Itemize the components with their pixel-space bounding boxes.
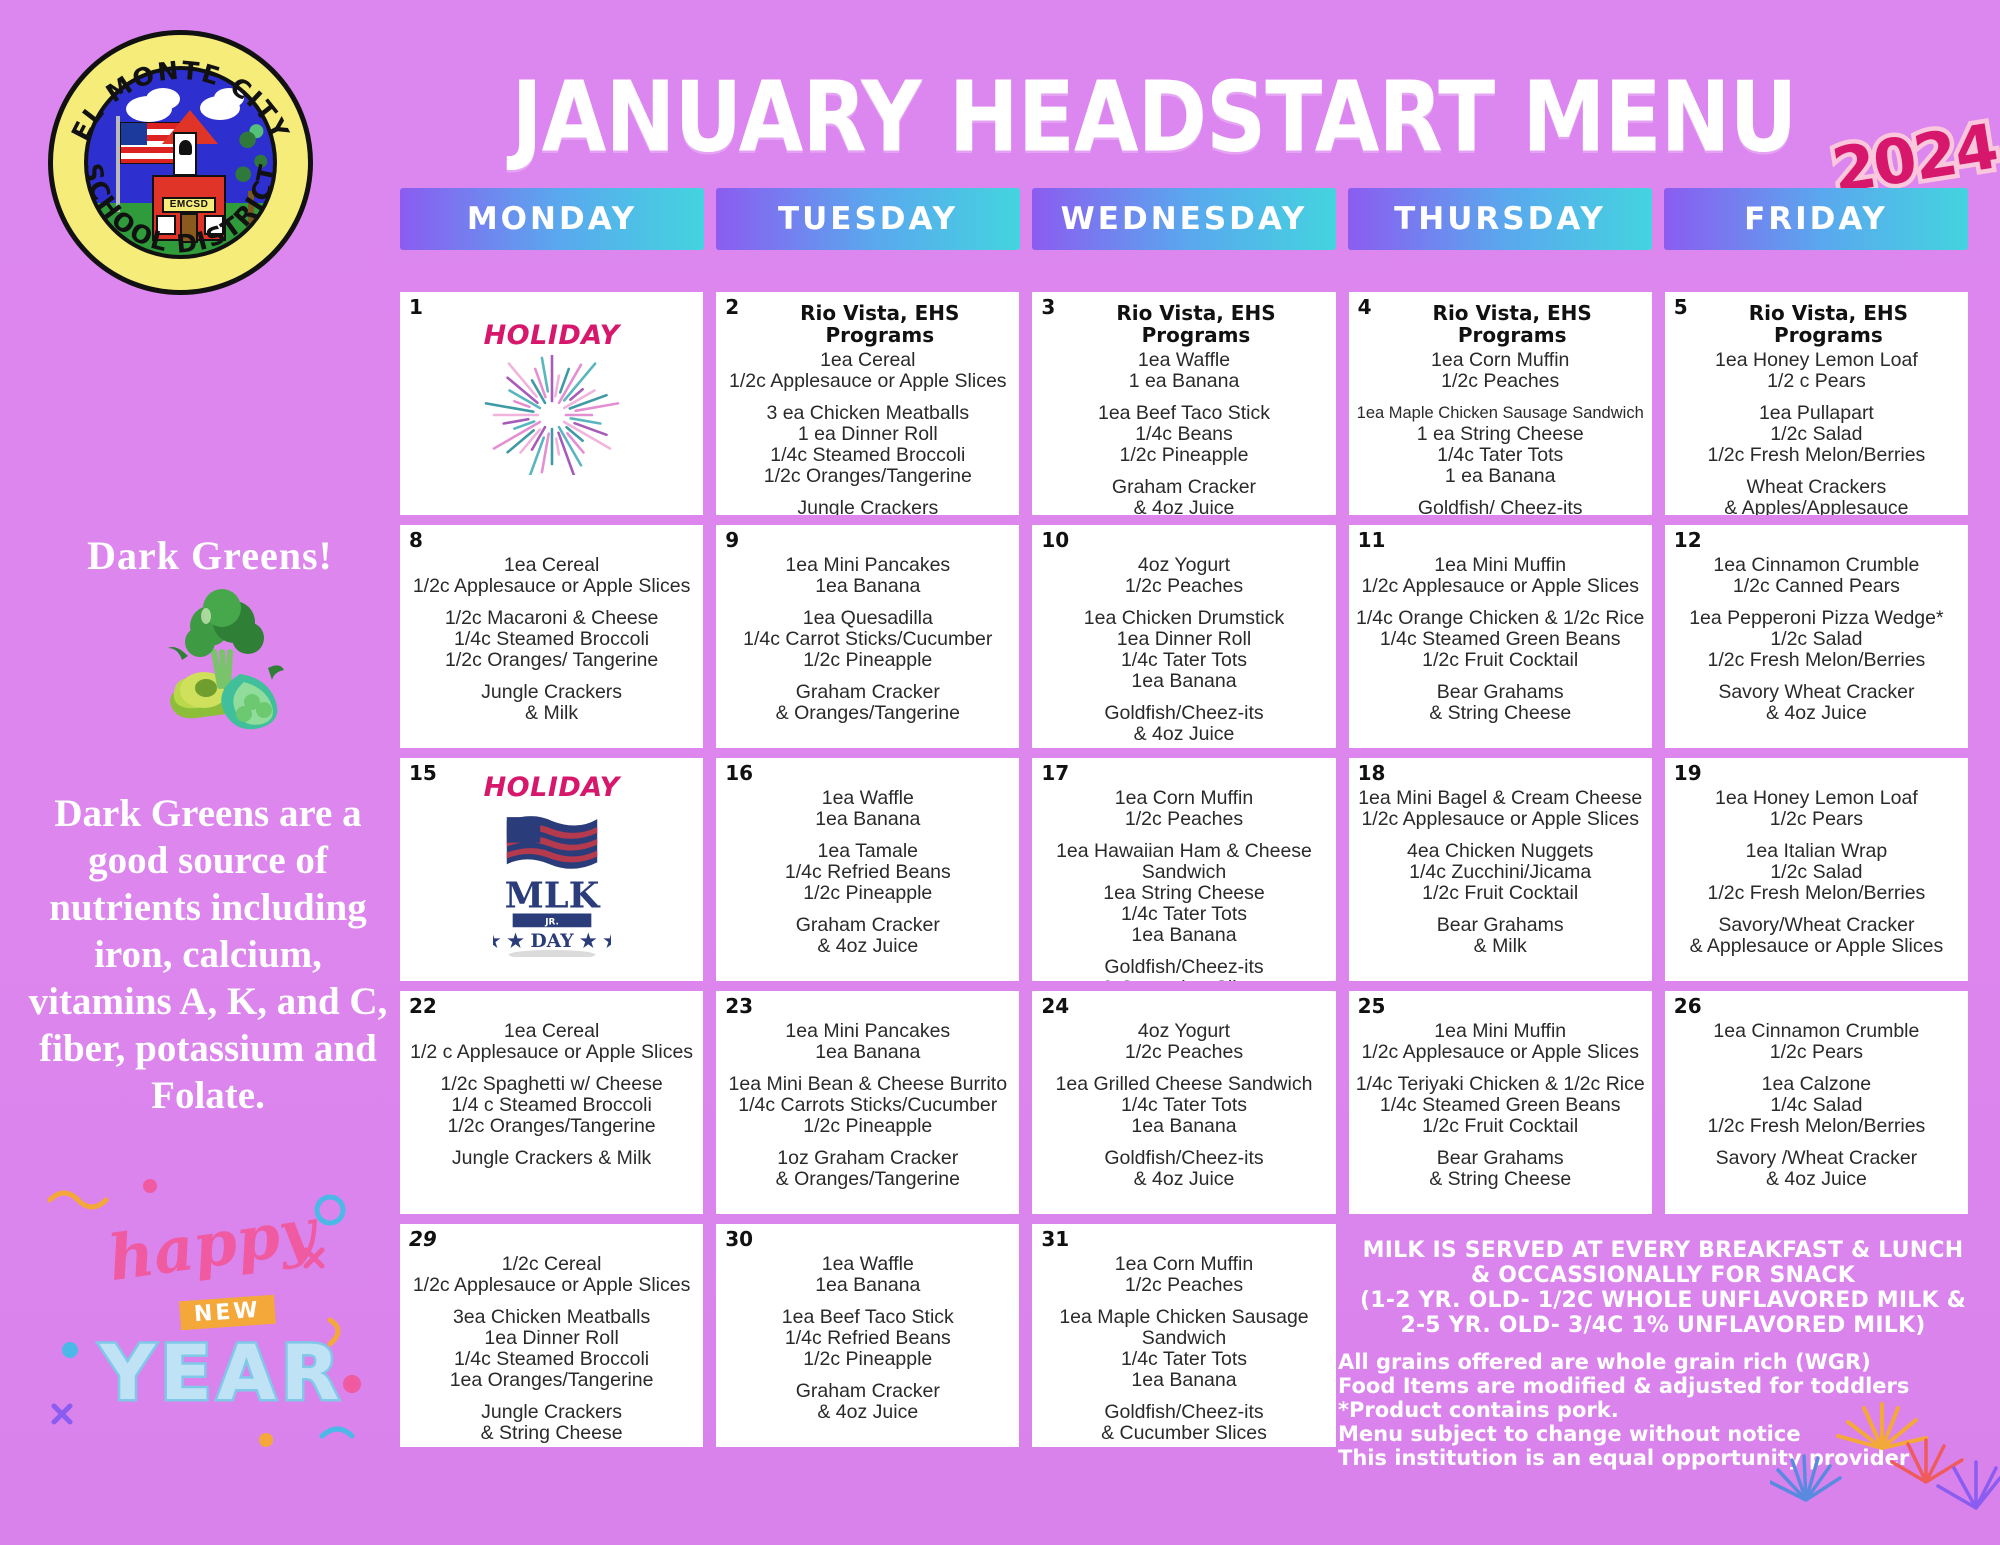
menu-items: 4oz Yogurt1/2c Peaches1ea Grilled Cheese…: [1038, 1021, 1329, 1190]
lunch-group: 1ea Quesadilla1/4c Carrot Sticks/Cucumbe…: [722, 608, 1013, 671]
day-number: 15: [409, 761, 437, 785]
menu-item-line: 1/2c Salad: [1671, 629, 1962, 650]
menu-item-line: 1ea Mini Bean & Cheese Burrito: [722, 1074, 1013, 1095]
menu-item-line: 1ea Banana: [1038, 1116, 1329, 1137]
menu-item-line: 4oz Yogurt: [1038, 1021, 1329, 1042]
menu-item-line: 1ea Chicken Drumstick: [1038, 608, 1329, 629]
menu-item-line: 1ea Tamale: [722, 841, 1013, 862]
svg-text:EL MONTE CITY: EL MONTE CITY: [66, 56, 295, 146]
menu-item-line: 1/4c Steamed Broccoli: [406, 1349, 697, 1370]
menu-item-line: 1/2c Oranges/Tangerine: [722, 466, 1013, 487]
menu-item-line: 1ea Quesadilla: [722, 608, 1013, 629]
snack-group: Wheat Crackers& Apples/Applesauce: [1671, 477, 1962, 515]
menu-item-line: 1 ea String Cheese: [1355, 424, 1646, 445]
calendar-cell-day-3[interactable]: 3Rio Vista, EHS Programs1ea Waffle1 ea B…: [1032, 292, 1335, 515]
day-number: 4: [1358, 295, 1372, 319]
menu-item-line: 1/4c Tater Tots: [1038, 904, 1329, 925]
svg-text:MLK: MLK: [504, 876, 600, 917]
menu-item-line: 1/2c Salad: [1671, 424, 1962, 445]
menu-item-line: 1ea Hawaiian Ham & Cheese: [1038, 841, 1329, 862]
menu-item-line: 1ea Mini Muffin: [1355, 555, 1646, 576]
menu-item-line: 1/2c Applesauce or Apple Slices: [406, 576, 697, 597]
fireworks-burst-icon: [406, 355, 697, 475]
menu-items: 1ea Mini Bagel & Cream Cheese1/2c Apples…: [1355, 788, 1646, 957]
snack-group: Goldfish/ Cheez-its& Cucumber Slices: [1355, 498, 1646, 515]
svg-text:SCHOOL DISTRICT: SCHOOL DISTRICT: [78, 161, 284, 259]
menu-item-line: 1/2c Peaches: [1038, 809, 1329, 830]
menu-item-line: 1/2c Pineapple: [722, 650, 1013, 671]
calendar-cell-day-24[interactable]: 244oz Yogurt1/2c Peaches1ea Grilled Chee…: [1032, 991, 1335, 1214]
menu-item-line: 1ea Pullapart: [1671, 403, 1962, 424]
menu-item-line: & 4oz Juice: [1671, 703, 1962, 724]
menu-item-line: 1ea Oranges/Tangerine: [406, 1370, 697, 1391]
day-number: 16: [725, 761, 753, 785]
menu-item-line: Graham Cracker: [1038, 477, 1329, 498]
breakfast-group: 1ea Corn Muffin1/2c Peaches: [1038, 788, 1329, 830]
menu-items: 1ea Honey Lemon Loaf1/2c Pears1ea Italia…: [1671, 788, 1962, 957]
menu-item-line: 1ea Cereal: [722, 350, 1013, 371]
menu-item-line: & Cucumber Slices: [1038, 1423, 1329, 1444]
menu-items: 1ea Cereal1/2c Applesauce or Apple Slice…: [406, 555, 697, 724]
weekday-header-row: MONDAY TUESDAY WEDNESDAY THURSDAY FRIDAY: [400, 188, 1968, 250]
snack-group: Goldfish/Cheez-its& Cucumber Slices: [1038, 1402, 1329, 1444]
lunch-group: 1ea Beef Taco Stick1/4c Beans1/2c Pineap…: [1038, 403, 1329, 466]
menu-item-line: 1/2c Fruit Cocktail: [1355, 650, 1646, 671]
menu-item-line: & Oranges/Tangerine: [722, 1169, 1013, 1190]
menu-item-line: 1ea Mini Pancakes: [722, 1021, 1013, 1042]
calendar-cell-day-16[interactable]: 161ea Waffle1ea Banana1ea Tamale1/4c Ref…: [716, 758, 1019, 981]
fireworks-decoration-icon: [1770, 1340, 2000, 1530]
menu-item-line: 1/4c Orange Chicken & 1/2c Rice: [1355, 608, 1646, 629]
snack-group: Graham Cracker& 4oz Juice: [722, 1381, 1013, 1423]
menu-item-line: 1ea Banana: [722, 576, 1013, 597]
day-number: 23: [725, 994, 753, 1018]
day-number: 22: [409, 994, 437, 1018]
menu-item-line: & String Cheese: [1355, 1169, 1646, 1190]
lunch-group: 1ea Maple Chicken SausageSandwich1/4c Ta…: [1038, 1307, 1329, 1391]
breakfast-group: 1ea Cinnamon Crumble1/2c Pears: [1671, 1021, 1962, 1063]
day-number: 8: [409, 528, 423, 552]
snack-group: Bear Grahams& String Cheese: [1355, 1148, 1646, 1190]
year-text: YEAR: [100, 1328, 344, 1417]
milk-note-line: & OCCASSIONALLY FOR SNACK: [1338, 1263, 1988, 1288]
snack-group: Jungle Crackers & Milk: [406, 1148, 697, 1169]
menu-item-line: 3ea Chicken Meatballs: [406, 1307, 697, 1328]
menu-item-line: 1/2c Peaches: [1038, 1042, 1329, 1063]
menu-item-line: 1ea Banana: [1038, 925, 1329, 946]
menu-item-line: 1/2c Cereal: [406, 1254, 697, 1275]
calendar-cell-day-12[interactable]: 121ea Cinnamon Crumble1/2c Canned Pears1…: [1665, 525, 1968, 748]
day-number: 24: [1041, 994, 1069, 1018]
weekday-header-wednesday: WEDNESDAY: [1032, 188, 1336, 250]
menu-item-line: 1/2c Applesauce or Apple Slices: [1355, 1042, 1646, 1063]
menu-item-line: & Applesauce or Apple Slices: [1671, 936, 1962, 957]
breakfast-group: 1ea Mini Pancakes1ea Banana: [722, 1021, 1013, 1063]
weekday-header-monday: MONDAY: [400, 188, 704, 250]
menu-items: 1ea Corn Muffin1/2c Peaches1ea Hawaiian …: [1038, 788, 1329, 981]
menu-item-line: 1ea Honey Lemon Loaf: [1671, 350, 1962, 371]
menu-item-line: Jungle Crackers: [406, 682, 697, 703]
menu-item-line: 1/2c Oranges/ Tangerine: [406, 650, 697, 671]
menu-item-line: 1/2c Pears: [1671, 809, 1962, 830]
menu-item-line: 1/2c Pineapple: [1038, 445, 1329, 466]
calendar-cell-day-26[interactable]: 261ea Cinnamon Crumble1/2c Pears1ea Calz…: [1665, 991, 1968, 1214]
menu-item-line: & 4oz Juice: [1671, 1169, 1962, 1190]
day-number: 2: [725, 295, 739, 319]
lunch-group: 1/4c Orange Chicken & 1/2c Rice1/4c Stea…: [1355, 608, 1646, 671]
calendar-cell-day-8[interactable]: 81ea Cereal1/2c Applesauce or Apple Slic…: [400, 525, 703, 748]
milk-note-line: 2-5 YR. OLD- 3/4C 1% UNFLAVORED MILK): [1338, 1313, 1988, 1338]
milk-note: MILK IS SERVED AT EVERY BREAKFAST & LUNC…: [1338, 1238, 1988, 1338]
menu-item-line: 1ea Dinner Roll: [1038, 629, 1329, 650]
menu-item-line: 1/2c Fruit Cocktail: [1355, 1116, 1646, 1137]
program-label: Rio Vista, EHS Programs: [1379, 302, 1646, 346]
day-number: 25: [1358, 994, 1386, 1018]
snack-group: Jungle Crackers& Milk: [406, 682, 697, 724]
menu-item-line: 1ea Banana: [722, 1042, 1013, 1063]
snack-group: Goldfish/Cheez-its& 4oz Juice: [1038, 1148, 1329, 1190]
menu-item-line: 1ea Banana: [1038, 1370, 1329, 1391]
snack-group: Graham Cracker& 4oz Juice: [1038, 477, 1329, 515]
menu-item-line: 1ea Cinnamon Crumble: [1671, 1021, 1962, 1042]
lunch-group: 4ea Chicken Nuggets1/4c Zucchini/Jicama1…: [1355, 841, 1646, 904]
lunch-group: 1/4c Teriyaki Chicken & 1/2c Rice1/4c St…: [1355, 1074, 1646, 1137]
milk-note-line: (1-2 YR. OLD- 1/2C WHOLE UNFLAVORED MILK…: [1338, 1288, 1988, 1313]
program-label: Rio Vista, EHS Programs: [746, 302, 1013, 346]
menu-item-line: 1/2c Peaches: [1355, 371, 1646, 392]
menu-item-line: 1/4c Teriyaki Chicken & 1/2c Rice: [1355, 1074, 1646, 1095]
breakfast-group: 1ea Waffle1ea Banana: [722, 788, 1013, 830]
menu-items: 1ea Cereal1/2 c Applesauce or Apple Slic…: [406, 1021, 697, 1169]
menu-poster: EMCSD EL MONTE CITY SCHOOL DISTRICT JANU…: [0, 0, 2000, 1545]
menu-item-line: 1ea Cereal: [406, 555, 697, 576]
snack-group: Savory/Wheat Cracker& Applesauce or Appl…: [1671, 915, 1962, 957]
day-number: 30: [725, 1227, 753, 1251]
breakfast-group: 1ea Mini Pancakes1ea Banana: [722, 555, 1013, 597]
menu-item-line: 1/4c Steamed Green Beans: [1355, 629, 1646, 650]
menu-item-line: 1/2c Oranges/Tangerine: [406, 1116, 697, 1137]
menu-item-line: 1/2c Applesauce or Apple Slices: [406, 1275, 697, 1296]
breakfast-group: 1ea Cereal1/2 c Applesauce or Apple Slic…: [406, 1021, 697, 1063]
menu-item-line: 1ea Italian Wrap: [1671, 841, 1962, 862]
svg-text:★ ★ DAY ★ ★: ★ ★ DAY ★ ★: [493, 930, 611, 952]
menu-item-line: 1 ea Dinner Roll: [722, 424, 1013, 445]
menu-item-line: & Oranges/Tangerine: [722, 703, 1013, 724]
menu-item-line: & 4oz Juice: [722, 936, 1013, 957]
menu-item-line: 1ea Maple Chicken Sausage Sandwich: [1355, 403, 1646, 424]
weekday-header-thursday: THURSDAY: [1348, 188, 1652, 250]
menu-item-line: 1/2c Pears: [1671, 1042, 1962, 1063]
menu-item-line: 1/2c Applesauce or Apple Slices: [722, 371, 1013, 392]
menu-item-line: Sandwich: [1038, 1328, 1329, 1349]
lunch-group: 1ea Italian Wrap1/2c Salad1/2c Fresh Mel…: [1671, 841, 1962, 904]
menu-item-line: 1/4c Refried Beans: [722, 1328, 1013, 1349]
menu-item-line: 1ea Honey Lemon Loaf: [1671, 788, 1962, 809]
menu-item-line: Goldfish/Cheez-its: [1038, 703, 1329, 724]
snack-group: Jungle Crackers& String Cheese: [722, 498, 1013, 515]
menu-item-line: 1ea Corn Muffin: [1038, 788, 1329, 809]
sidebar-title: Dark Greens!: [30, 532, 390, 579]
menu-item-line: 1/4c Tater Tots: [1038, 650, 1329, 671]
weekday-header-friday: FRIDAY: [1664, 188, 1968, 250]
day-number: 18: [1358, 761, 1386, 785]
menu-item-line: 1/2c Pineapple: [722, 1116, 1013, 1137]
menu-item-line: Savory Wheat Cracker: [1671, 682, 1962, 703]
menu-item-line: 1/4c Salad: [1671, 1095, 1962, 1116]
menu-item-line: & Cucumber Slices: [1038, 978, 1329, 981]
menu-item-line: Goldfish/Cheez-its: [1038, 1402, 1329, 1423]
program-label: Rio Vista, EHS Programs: [1062, 302, 1329, 346]
breakfast-group: 1ea Cereal1/2c Applesauce or Apple Slice…: [406, 555, 697, 597]
menu-item-line: & String Cheese: [406, 1423, 697, 1444]
menu-item-line: 1/4c Tater Tots: [1038, 1095, 1329, 1116]
menu-item-line: 1ea Mini Muffin: [1355, 1021, 1646, 1042]
menu-item-line: 1/4c Tater Tots: [1038, 1349, 1329, 1370]
day-number: 3: [1041, 295, 1055, 319]
calendar-cell-day-18[interactable]: 181ea Mini Bagel & Cream Cheese1/2c Appl…: [1349, 758, 1652, 981]
menu-item-line: 1/4c Steamed Broccoli: [406, 629, 697, 650]
sidebar-body-text: Dark Greens are a good source of nutrien…: [22, 790, 394, 1119]
menu-item-line: & String Cheese: [1355, 703, 1646, 724]
happy-new-year-icon: happy NEW YEAR: [30, 1170, 390, 1470]
breakfast-group: 1ea Honey Lemon Loaf1/2 c Pears: [1671, 350, 1962, 392]
menu-item-line: 1/2c Peaches: [1038, 576, 1329, 597]
calendar-cell-day-1[interactable]: 1HOLIDAY: [400, 292, 703, 515]
menu-item-line: Goldfish/ Cheez-its: [1355, 498, 1646, 515]
breakfast-group: 1ea Waffle1 ea Banana: [1038, 350, 1329, 392]
menu-item-line: 1ea Mini Bagel & Cream Cheese: [1355, 788, 1646, 809]
menu-item-line: 1/2c Applesauce or Apple Slices: [1355, 809, 1646, 830]
menu-item-line: Savory /Wheat Cracker: [1671, 1148, 1962, 1169]
page-title: JANUARY HEADSTART MENU: [471, 68, 1838, 169]
lunch-group: 1ea Chicken Drumstick1ea Dinner Roll1/4c…: [1038, 608, 1329, 692]
menu-item-line: 1ea Cinnamon Crumble: [1671, 555, 1962, 576]
calendar-cell-day-31[interactable]: 311ea Corn Muffin1/2c Peaches1ea Maple C…: [1032, 1224, 1335, 1447]
menu-item-line: 1ea Waffle: [722, 788, 1013, 809]
menu-item-line: 1ea Banana: [1038, 671, 1329, 692]
menu-item-line: 1/4c Refried Beans: [722, 862, 1013, 883]
calendar-cell-day-30[interactable]: 301ea Waffle1ea Banana1ea Beef Taco Stic…: [716, 1224, 1019, 1447]
breakfast-group: 1ea Waffle1ea Banana: [722, 1254, 1013, 1296]
lunch-group: 1ea Pullapart1/2c Salad1/2c Fresh Melon/…: [1671, 403, 1962, 466]
weekday-header-tuesday: TUESDAY: [716, 188, 1020, 250]
snack-group: 1oz Graham Cracker& Oranges/Tangerine: [722, 1148, 1013, 1190]
menu-item-line: & Apples/Applesauce: [1671, 498, 1962, 515]
menu-items: 4oz Yogurt1/2c Peaches1ea Chicken Drumst…: [1038, 555, 1329, 745]
snack-group: Savory /Wheat Cracker& 4oz Juice: [1671, 1148, 1962, 1190]
menu-items: 1ea Mini Pancakes1ea Banana1ea Quesadill…: [722, 555, 1013, 724]
menu-item-line: 1ea Beef Taco Stick: [722, 1307, 1013, 1328]
calendar-cell-day-2[interactable]: 2Rio Vista, EHS Programs1ea Cereal1/2c A…: [716, 292, 1019, 515]
seal-curved-text: EL MONTE CITY SCHOOL DISTRICT: [48, 30, 313, 295]
day-number: 11: [1358, 528, 1386, 552]
menu-item-line: Bear Grahams: [1355, 1148, 1646, 1169]
menu-item-line: 1/2c Fresh Melon/Berries: [1671, 883, 1962, 904]
menu-items: 1ea Mini Muffin1/2c Applesauce or Apple …: [1355, 555, 1646, 724]
lunch-group: 3ea Chicken Meatballs1ea Dinner Roll1/4c…: [406, 1307, 697, 1391]
breakfast-group: 1ea Mini Muffin1/2c Applesauce or Apple …: [1355, 555, 1646, 597]
menu-item-line: Jungle Crackers & Milk: [406, 1148, 697, 1169]
menu-items: 1/2c Cereal1/2c Applesauce or Apple Slic…: [406, 1254, 697, 1444]
menu-item-line: 1ea Banana: [722, 809, 1013, 830]
breakfast-group: 4oz Yogurt1/2c Peaches: [1038, 555, 1329, 597]
menu-items: 1ea Waffle1ea Banana1ea Tamale1/4c Refri…: [722, 788, 1013, 957]
lunch-group: 1ea Tamale1/4c Refried Beans1/2c Pineapp…: [722, 841, 1013, 904]
menu-item-line: & Milk: [1355, 936, 1646, 957]
menu-item-line: 1 ea Banana: [1355, 466, 1646, 487]
breakfast-group: 1ea Corn Muffin1/2c Peaches: [1038, 1254, 1329, 1296]
menu-item-line: 1ea Beef Taco Stick: [1038, 403, 1329, 424]
menu-item-line: 1/4 c Steamed Broccoli: [406, 1095, 697, 1116]
menu-item-line: Graham Cracker: [722, 915, 1013, 936]
menu-item-line: 1/2c Macaroni & Cheese: [406, 608, 697, 629]
menu-item-line: Graham Cracker: [722, 682, 1013, 703]
dark-greens-vegetables-icon: [118, 582, 308, 742]
district-logo: EMCSD EL MONTE CITY SCHOOL DISTRICT: [48, 30, 313, 295]
menu-items: 1ea Corn Muffin1/2c Peaches1ea Maple Chi…: [1038, 1254, 1329, 1444]
snack-group: Bear Grahams& Milk: [1355, 915, 1646, 957]
menu-item-line: Sandwich: [1038, 862, 1329, 883]
menu-item-line: 1ea Mini Pancakes: [722, 555, 1013, 576]
breakfast-group: 1ea Honey Lemon Loaf1/2c Pears: [1671, 788, 1962, 830]
menu-item-line: 1/2 c Pears: [1671, 371, 1962, 392]
menu-items: 1ea Corn Muffin1/2c Peaches1ea Maple Chi…: [1355, 350, 1646, 515]
breakfast-group: 4oz Yogurt1/2c Peaches: [1038, 1021, 1329, 1063]
lunch-group: 1/2c Macaroni & Cheese1/4c Steamed Brocc…: [406, 608, 697, 671]
menu-item-line: 1ea Dinner Roll: [406, 1328, 697, 1349]
snack-group: Goldfish/Cheez-its& Cucumber Slices: [1038, 957, 1329, 981]
menu-item-line: & 4oz Juice: [1038, 498, 1329, 515]
calendar-cell-day-15[interactable]: 15HOLIDAY MLK JR. ★ ★ DAY ★ ★: [400, 758, 703, 981]
day-number: 19: [1674, 761, 1702, 785]
menu-item-line: 1/2c Fresh Melon/Berries: [1671, 445, 1962, 466]
menu-item-line: 1ea Pepperoni Pizza Wedge*: [1671, 608, 1962, 629]
lunch-group: 1/2c Spaghetti w/ Cheese1/4 c Steamed Br…: [406, 1074, 697, 1137]
menu-item-line: 1/4c Tater Tots: [1355, 445, 1646, 466]
day-number: 5: [1674, 295, 1688, 319]
holiday-label: HOLIDAY: [406, 772, 697, 803]
menu-item-line: 1/4c Zucchini/Jicama: [1355, 862, 1646, 883]
menu-item-line: 3 ea Chicken Meatballs: [722, 403, 1013, 424]
menu-item-line: 1oz Graham Cracker: [722, 1148, 1013, 1169]
menu-item-line: 1/4c Carrots Sticks/Cucumber: [722, 1095, 1013, 1116]
menu-item-line: & Milk: [406, 703, 697, 724]
calendar-cell-day-11[interactable]: 111ea Mini Muffin1/2c Applesauce or Appl…: [1349, 525, 1652, 748]
menu-item-line: Bear Grahams: [1355, 915, 1646, 936]
calendar-cell-day-29[interactable]: 291/2c Cereal1/2c Applesauce or Apple Sl…: [400, 1224, 703, 1447]
menu-item-line: 1/2c Fresh Melon/Berries: [1671, 1116, 1962, 1137]
menu-item-line: 1/4c Carrot Sticks/Cucumber: [722, 629, 1013, 650]
menu-item-line: 1ea Maple Chicken Sausage: [1038, 1307, 1329, 1328]
menu-items: 1ea Cereal1/2c Applesauce or Apple Slice…: [722, 350, 1013, 515]
menu-item-line: 1ea String Cheese: [1038, 883, 1329, 904]
menu-item-line: 1ea Waffle: [722, 1254, 1013, 1275]
menu-item-line: 1ea Calzone: [1671, 1074, 1962, 1095]
breakfast-group: 1ea Mini Muffin1/2c Applesauce or Apple …: [1355, 1021, 1646, 1063]
menu-item-line: 1/2c Canned Pears: [1671, 576, 1962, 597]
menu-item-line: 1/2 c Applesauce or Apple Slices: [406, 1042, 697, 1063]
menu-item-line: 1ea Waffle: [1038, 350, 1329, 371]
menu-item-line: Wheat Crackers: [1671, 477, 1962, 498]
day-number: 9: [725, 528, 739, 552]
lunch-group: 1ea Beef Taco Stick1/4c Refried Beans1/2…: [722, 1307, 1013, 1370]
menu-items: 1ea Cinnamon Crumble1/2c Pears1ea Calzon…: [1671, 1021, 1962, 1190]
menu-item-line: Savory/Wheat Cracker: [1671, 915, 1962, 936]
menu-item-line: Goldfish/Cheez-its: [1038, 1148, 1329, 1169]
svg-text:JR.: JR.: [544, 917, 559, 927]
menu-item-line: 1ea Corn Muffin: [1355, 350, 1646, 371]
menu-item-line: 1/2c Fruit Cocktail: [1355, 883, 1646, 904]
menu-item-line: Jungle Crackers: [406, 1402, 697, 1423]
snack-group: Graham Cracker& 4oz Juice: [722, 915, 1013, 957]
menu-item-line: & 4oz Juice: [722, 1402, 1013, 1423]
calendar-cell-day-25[interactable]: 251ea Mini Muffin1/2c Applesauce or Appl…: [1349, 991, 1652, 1214]
lunch-group: 1ea Pepperoni Pizza Wedge*1/2c Salad1/2c…: [1671, 608, 1962, 671]
menu-item-line: 1ea Corn Muffin: [1038, 1254, 1329, 1275]
breakfast-group: 1ea Mini Bagel & Cream Cheese1/2c Apples…: [1355, 788, 1646, 830]
breakfast-group: 1ea Cereal1/2c Applesauce or Apple Slice…: [722, 350, 1013, 392]
menu-items: 1ea Honey Lemon Loaf1/2 c Pears1ea Pulla…: [1671, 350, 1962, 515]
snack-group: Bear Grahams& String Cheese: [1355, 682, 1646, 724]
snack-group: Goldfish/Cheez-its& 4oz Juice: [1038, 703, 1329, 745]
calendar-cell-day-23[interactable]: 231ea Mini Pancakes1ea Banana1ea Mini Be…: [716, 991, 1019, 1214]
milk-note-line: MILK IS SERVED AT EVERY BREAKFAST & LUNC…: [1338, 1238, 1988, 1263]
lunch-group: 1ea Maple Chicken Sausage Sandwich1 ea S…: [1355, 403, 1646, 487]
menu-item-line: 1ea Banana: [722, 1275, 1013, 1296]
holiday-label: HOLIDAY: [406, 320, 697, 351]
menu-item-line: 4ea Chicken Nuggets: [1355, 841, 1646, 862]
lunch-group: 3 ea Chicken Meatballs1 ea Dinner Roll1/…: [722, 403, 1013, 487]
menu-item-line: 1/4c Steamed Green Beans: [1355, 1095, 1646, 1116]
calendar-cell-day-4[interactable]: 4Rio Vista, EHS Programs1ea Corn Muffin1…: [1349, 292, 1652, 515]
menu-item-line: 1/2c Fresh Melon/Berries: [1671, 650, 1962, 671]
menu-items: 1ea Mini Pancakes1ea Banana1ea Mini Bean…: [722, 1021, 1013, 1190]
menu-items: 1ea Waffle1 ea Banana1ea Beef Taco Stick…: [1038, 350, 1329, 515]
menu-item-line: Goldfish/Cheez-its: [1038, 957, 1329, 978]
calendar-cell-day-5[interactable]: 5Rio Vista, EHS Programs1ea Honey Lemon …: [1665, 292, 1968, 515]
menu-item-line: & 4oz Juice: [1038, 724, 1329, 745]
menu-items: 1ea Cinnamon Crumble1/2c Canned Pears1ea…: [1671, 555, 1962, 724]
mlk-day-flag-icon: MLK JR. ★ ★ DAY ★ ★: [406, 809, 697, 957]
day-number: 31: [1041, 1227, 1069, 1251]
menu-item-line: 1/4c Beans: [1038, 424, 1329, 445]
menu-item-line: 1/2c Spaghetti w/ Cheese: [406, 1074, 697, 1095]
day-number: 26: [1674, 994, 1702, 1018]
calendar-cell-day-9[interactable]: 91ea Mini Pancakes1ea Banana1ea Quesadil…: [716, 525, 1019, 748]
breakfast-group: 1ea Corn Muffin1/2c Peaches: [1355, 350, 1646, 392]
menu-item-line: & 4oz Juice: [1038, 1169, 1329, 1190]
snack-group: Savory Wheat Cracker& 4oz Juice: [1671, 682, 1962, 724]
calendar-cell-day-10[interactable]: 104oz Yogurt1/2c Peaches1ea Chicken Drum…: [1032, 525, 1335, 748]
menu-item-line: Bear Grahams: [1355, 682, 1646, 703]
lunch-group: 1ea Grilled Cheese Sandwich1/4c Tater To…: [1038, 1074, 1329, 1137]
calendar-cell-day-22[interactable]: 221ea Cereal1/2 c Applesauce or Apple Sl…: [400, 991, 703, 1214]
day-number: 10: [1041, 528, 1069, 552]
day-number: 29: [409, 1227, 437, 1251]
menu-item-line: 1/4c Steamed Broccoli: [722, 445, 1013, 466]
calendar-cell-day-19[interactable]: 191ea Honey Lemon Loaf1/2c Pears1ea Ital…: [1665, 758, 1968, 981]
calendar-cell-day-17[interactable]: 171ea Corn Muffin1/2c Peaches1ea Hawaiia…: [1032, 758, 1335, 981]
breakfast-group: 1ea Cinnamon Crumble1/2c Canned Pears: [1671, 555, 1962, 597]
menu-item-line: Graham Cracker: [722, 1381, 1013, 1402]
menu-item-line: 1 ea Banana: [1038, 371, 1329, 392]
menu-item-line: 1/2c Applesauce or Apple Slices: [1355, 576, 1646, 597]
menu-item-line: 4oz Yogurt: [1038, 555, 1329, 576]
menu-item-line: 1/2c Pineapple: [722, 883, 1013, 904]
lunch-group: 1ea Calzone1/4c Salad1/2c Fresh Melon/Be…: [1671, 1074, 1962, 1137]
day-number: 12: [1674, 528, 1702, 552]
snack-group: Graham Cracker& Oranges/Tangerine: [722, 682, 1013, 724]
